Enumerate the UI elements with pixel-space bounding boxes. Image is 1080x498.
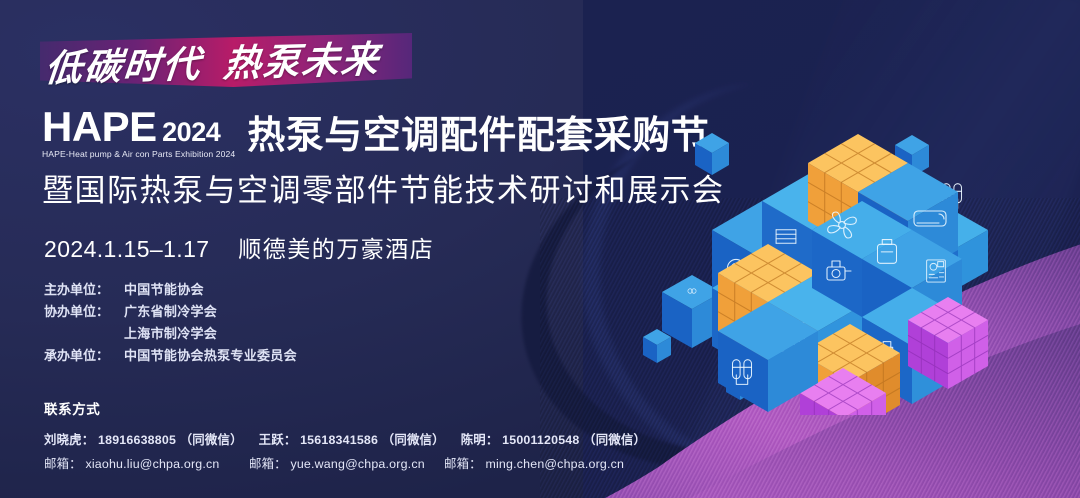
brand-lockup: HAPE 2024 (42, 107, 235, 148)
contact-phone: 15618341586 (300, 433, 378, 447)
organizer-list: 主办单位： 中国节能协会 协办单位： 广东省制冷学会 协办单位： 上海市制冷学会… (44, 279, 297, 367)
date-venue-line: 2024.1.15–1.17 顺德美的万豪酒店 (44, 230, 434, 264)
contact-section: 联系方式 刘晓虎： 18916638805 （同微信） 王跃： 15618341… (44, 398, 646, 475)
organizer-value: 中国节能协会热泵专业委员会 (124, 345, 297, 367)
promotional-banner: 低碳时代 热泵未来 HAPE 2024 HAPE-Heat pump & Air… (0, 0, 1080, 498)
contact-email: xiaohu.liu@chpa.org.cn (85, 457, 219, 471)
brand-block: HAPE 2024 HAPE-Heat pump & Air con Parts… (42, 107, 241, 159)
organizer-label: 协办单位： (44, 301, 124, 323)
cube-cluster-svg (640, 125, 1060, 415)
contact-wechat-note: （同微信） (583, 433, 646, 447)
brand-year: 2024 (162, 117, 220, 148)
slogan-gap (202, 60, 224, 61)
contact-phone: 18916638805 (98, 433, 176, 447)
organizer-row: 主办单位： 中国节能协会 (44, 279, 297, 301)
contact-email-cell: 邮箱： ming.chen@chpa.org.cn (444, 454, 624, 475)
contact-email: ming.chen@chpa.org.cn (485, 457, 624, 471)
contact-person: 刘晓虎： 18916638805 （同微信） (44, 430, 243, 451)
satellite-cube-tiny-left (643, 329, 671, 363)
contact-email-cell: 邮箱： xiaohu.liu@chpa.org.cn (44, 454, 249, 475)
contact-email-cell: 邮箱： yue.wang@chpa.org.cn (249, 454, 444, 475)
brand-name: HAPE (42, 107, 157, 147)
organizer-value: 中国节能协会 (124, 279, 204, 301)
main-title-row: HAPE 2024 HAPE-Heat pump & Air con Parts… (42, 107, 709, 159)
calligraphy-slogan: 低碳时代 热泵未来 (43, 25, 420, 95)
slogan-part-1: 低碳时代 (43, 34, 205, 92)
event-venue: 顺德美的万豪酒店 (238, 236, 434, 262)
contact-name: 刘晓虎： (44, 433, 94, 447)
organizer-label: 主办单位： (44, 279, 124, 301)
contact-person: 王跃： 15618341586 （同微信） (259, 430, 445, 451)
contact-person: 陈明： 15001120548 （同微信） (461, 430, 646, 451)
brand-subtitle-en: HAPE-Heat pump & Air con Parts Exhibitio… (42, 149, 235, 159)
organizer-label: 承办单位： (44, 345, 124, 367)
organizer-value: 上海市制冷学会 (124, 323, 217, 345)
email-label: 邮箱： (444, 457, 482, 471)
contact-heading: 联系方式 (44, 398, 646, 418)
contact-email: yue.wang@chpa.org.cn (290, 457, 424, 471)
contact-email-row: 邮箱： xiaohu.liu@chpa.org.cn 邮箱： yue.wang@… (44, 454, 646, 475)
slogan-part-2: 热泵未来 (221, 29, 383, 87)
contact-wechat-note: （同微信） (180, 433, 243, 447)
page-subtitle: 暨国际热泵与空调零部件节能技术研讨和展示会 (42, 165, 725, 210)
contact-wechat-note: （同微信） (382, 433, 445, 447)
contact-phone-row: 刘晓虎： 18916638805 （同微信） 王跃： 15618341586 （… (44, 430, 646, 451)
organizer-row: 协办单位： 广东省制冷学会 (44, 301, 297, 323)
isometric-cube-cluster (640, 125, 1060, 415)
contact-name: 王跃： (259, 433, 297, 447)
event-date: 2024.1.15–1.17 (44, 236, 209, 262)
organizer-row: 协办单位： 上海市制冷学会 (44, 323, 297, 345)
contact-name: 陈明： (461, 433, 499, 447)
email-label: 邮箱： (249, 457, 287, 471)
email-label: 邮箱： (44, 457, 82, 471)
satellite-cube-top-left (695, 133, 729, 175)
organizer-value: 广东省制冷学会 (124, 301, 217, 323)
organizer-row: 承办单位： 中国节能协会热泵专业委员会 (44, 345, 297, 367)
contact-phone: 15001120548 (502, 433, 579, 447)
